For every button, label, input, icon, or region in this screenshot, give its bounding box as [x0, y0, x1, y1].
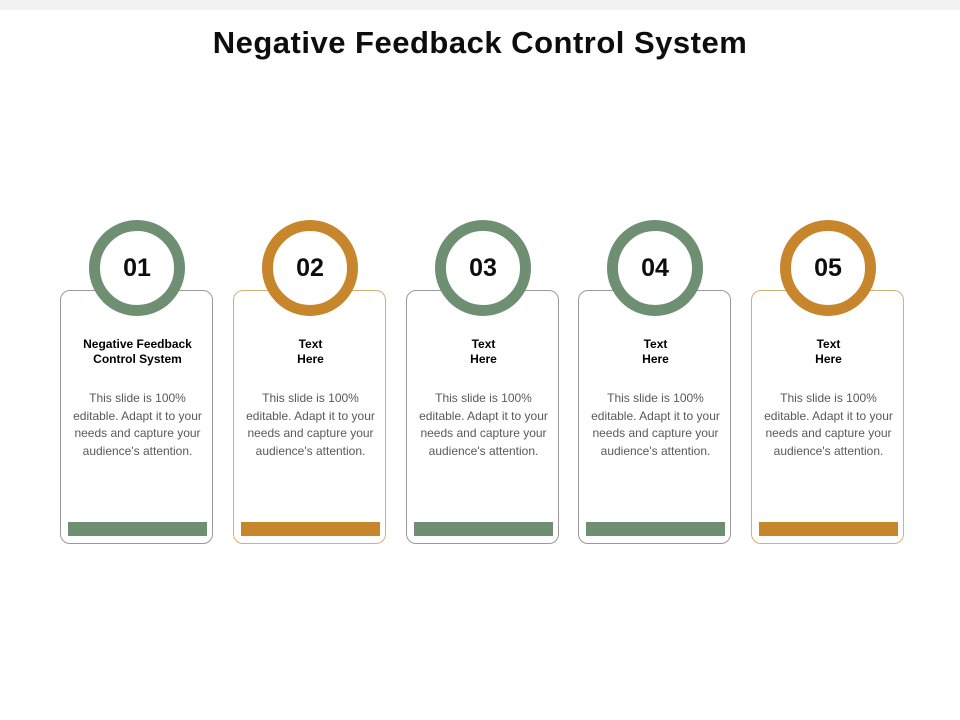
step-number: 05 — [791, 231, 865, 305]
card-row: Negative Feedback Control System This sl… — [60, 220, 906, 560]
card-item[interactable]: TextHere This slide is 100% editable. Ad… — [233, 220, 388, 560]
top-band — [0, 0, 960, 10]
card-heading: TextHere — [583, 337, 728, 367]
step-circle[interactable]: 04 — [607, 220, 703, 316]
card-panel: TextHere This slide is 100% editable. Ad… — [578, 290, 731, 544]
card-item[interactable]: Negative Feedback Control System This sl… — [60, 220, 215, 560]
card-heading: TextHere — [238, 337, 383, 367]
card-footer-bar — [241, 522, 380, 536]
card-footer-bar — [586, 522, 725, 536]
card-panel: TextHere This slide is 100% editable. Ad… — [406, 290, 559, 544]
card-body-text: This slide is 100% editable. Adapt it to… — [65, 390, 210, 460]
card-panel: TextHere This slide is 100% editable. Ad… — [233, 290, 386, 544]
card-item[interactable]: TextHere This slide is 100% editable. Ad… — [406, 220, 561, 560]
card-body-text: This slide is 100% editable. Adapt it to… — [238, 390, 383, 460]
card-item[interactable]: TextHere This slide is 100% editable. Ad… — [751, 220, 906, 560]
card-heading: TextHere — [411, 337, 556, 367]
step-number: 02 — [273, 231, 347, 305]
step-circle[interactable]: 02 — [262, 220, 358, 316]
card-body-text: This slide is 100% editable. Adapt it to… — [583, 390, 728, 460]
step-number: 01 — [100, 231, 174, 305]
card-footer-bar — [414, 522, 553, 536]
card-footer-bar — [68, 522, 207, 536]
card-body-text: This slide is 100% editable. Adapt it to… — [756, 390, 901, 460]
card-body-text: This slide is 100% editable. Adapt it to… — [411, 390, 556, 460]
card-item[interactable]: TextHere This slide is 100% editable. Ad… — [578, 220, 733, 560]
step-circle[interactable]: 05 — [780, 220, 876, 316]
card-footer-bar — [759, 522, 898, 536]
card-panel: Negative Feedback Control System This sl… — [60, 290, 213, 544]
card-heading: TextHere — [756, 337, 901, 367]
step-number: 04 — [618, 231, 692, 305]
slide-canvas: Negative Feedback Control System Negativ… — [0, 10, 960, 720]
page-title: Negative Feedback Control System — [0, 25, 960, 61]
card-heading: Negative Feedback Control System — [65, 337, 210, 367]
step-circle[interactable]: 03 — [435, 220, 531, 316]
step-circle[interactable]: 01 — [89, 220, 185, 316]
step-number: 03 — [446, 231, 520, 305]
card-panel: TextHere This slide is 100% editable. Ad… — [751, 290, 904, 544]
